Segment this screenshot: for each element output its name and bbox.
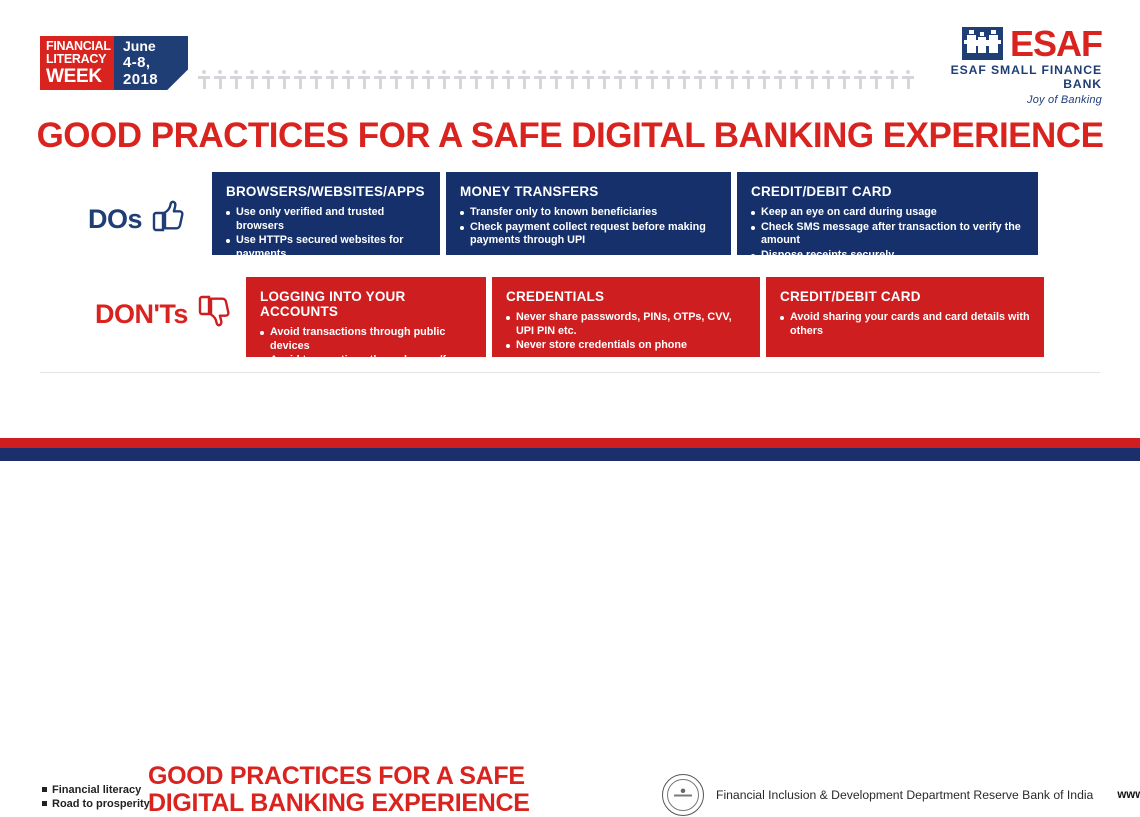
badge-line-2: LITERACY <box>46 53 114 66</box>
badge-title-block: FINANCIAL LITERACY WEEK <box>40 36 114 90</box>
page-title: GOOD PRACTICES FOR A SAFE DIGITAL BANKIN… <box>0 116 1140 156</box>
card-list: Never share passwords, PINs, OTPs, CVV, … <box>506 311 746 353</box>
footer-title: GOOD PRACTICES FOR A SAFE DIGITAL BANKIN… <box>148 763 530 817</box>
financial-literacy-week-badge: FINANCIAL LITERACY WEEK June 4-8, 2018 <box>40 36 188 90</box>
list-item: Dispose receipts securely <box>751 249 1024 263</box>
card-heading: LOGGING INTO YOUR ACCOUNTS <box>260 289 472 319</box>
donts-card-credentials: CREDENTIALS Never share passwords, PINs,… <box>492 277 760 357</box>
dos-cards-row: BROWSERS/WEBSITES/APPS Use only verified… <box>212 172 1038 255</box>
esaf-wordmark: ESAF <box>1010 27 1102 60</box>
list-item: Use only verified and trusted browsers <box>226 206 426 233</box>
esaf-logo-top: ESAF <box>922 27 1102 60</box>
rbi-department-text: Financial Inclusion & Development Depart… <box>716 788 1093 802</box>
esaf-people-mark-icon <box>962 27 1003 60</box>
esaf-bank-logo: ESAF ESAF SMALL FINANCE BANK Joy of Bank… <box>922 27 1102 106</box>
card-list: Transfer only to known beneficiaries Che… <box>460 206 717 248</box>
badge-date-range: 4-8, 2018 <box>123 54 188 88</box>
list-item: Avoid sharing your cards and card detail… <box>780 311 1030 338</box>
dos-section-label: DOs <box>88 197 186 240</box>
card-heading: MONEY TRANSFERS <box>460 184 717 199</box>
card-list: Keep an eye on card during usage Check S… <box>751 206 1024 262</box>
esaf-logo-tagline: Joy of Banking <box>922 94 1102 106</box>
thumbs-up-icon <box>146 197 186 240</box>
page-header: FINANCIAL LITERACY WEEK June 4-8, 2018 <box>0 0 1140 108</box>
donts-label-text: DON'Ts <box>95 300 188 328</box>
rbi-palm-tree-icon <box>674 788 692 802</box>
list-item: Never store credentials on phone <box>506 339 746 353</box>
footer-title-line-1: GOOD PRACTICES FOR A SAFE <box>148 763 530 790</box>
footer-bar-red <box>0 438 1140 448</box>
donts-card-logging-into-your-accounts: LOGGING INTO YOUR ACCOUNTS Avoid transac… <box>246 277 486 357</box>
dos-label-text: DOs <box>88 205 142 233</box>
donts-cards-row: LOGGING INTO YOUR ACCOUNTS Avoid transac… <box>246 277 1038 357</box>
list-item: Never share passwords, PINs, OTPs, CVV, … <box>506 311 746 338</box>
footer-tagline-bullets: Financial literacy Road to prosperity <box>42 783 150 811</box>
card-list: Use only verified and trusted browsers U… <box>226 206 426 276</box>
badge-line-3: WEEK <box>46 67 114 86</box>
rbi-attribution: Financial Inclusion & Development Depart… <box>662 774 1140 816</box>
list-item: Keep an eye on card during usage <box>751 206 1024 220</box>
card-list: Avoid sharing your cards and card detail… <box>780 311 1030 338</box>
rbi-seal-icon <box>662 774 704 816</box>
list-item: Avoid transactions through public device… <box>260 326 472 353</box>
badge-date-block: June 4-8, 2018 <box>114 36 188 90</box>
dos-card-browsers-websites-apps: BROWSERS/WEBSITES/APPS Use only verified… <box>212 172 440 255</box>
donts-card-credit-debit-card: CREDIT/DEBIT CARD Avoid sharing your car… <box>766 277 1044 357</box>
card-heading: CREDIT/DEBIT CARD <box>780 289 1030 304</box>
footer-title-line-2: DIGITAL BANKING EXPERIENCE <box>148 790 530 817</box>
dos-card-money-transfers: MONEY TRANSFERS Transfer only to known b… <box>446 172 731 255</box>
people-pattern-icon <box>196 64 918 90</box>
esaf-logo-subtitle: ESAF SMALL FINANCE BANK <box>922 63 1102 91</box>
card-heading: CREDENTIALS <box>506 289 746 304</box>
list-item: Check payment collect request before mak… <box>460 221 717 248</box>
footer-bullet-1: Financial literacy <box>42 783 150 797</box>
card-heading: CREDIT/DEBIT CARD <box>751 184 1024 199</box>
page-footer: Financial literacy Road to prosperity GO… <box>0 378 1140 436</box>
footer-bullet-2: Road to prosperity <box>42 797 150 811</box>
badge-date-month: June <box>123 38 188 54</box>
rbi-website-url[interactable]: www.rbi.org.in <box>1117 789 1140 801</box>
list-item: Use HTTPs secured websites for payments <box>226 234 426 261</box>
card-heading: BROWSERS/WEBSITES/APPS <box>226 184 426 199</box>
footer-bar-blue <box>0 448 1140 461</box>
list-item: Avoid transactions through open/free net… <box>260 354 472 381</box>
list-item: Transfer only to known beneficiaries <box>460 206 717 220</box>
dos-card-credit-debit-card: CREDIT/DEBIT CARD Keep an eye on card du… <box>737 172 1038 255</box>
list-item: Keep payment apps updated <box>226 262 426 276</box>
list-item: Check SMS message after transaction to v… <box>751 221 1024 248</box>
thumbs-down-icon <box>192 292 232 335</box>
footer-divider <box>40 372 1100 373</box>
donts-section-label: DON'Ts <box>95 292 232 335</box>
